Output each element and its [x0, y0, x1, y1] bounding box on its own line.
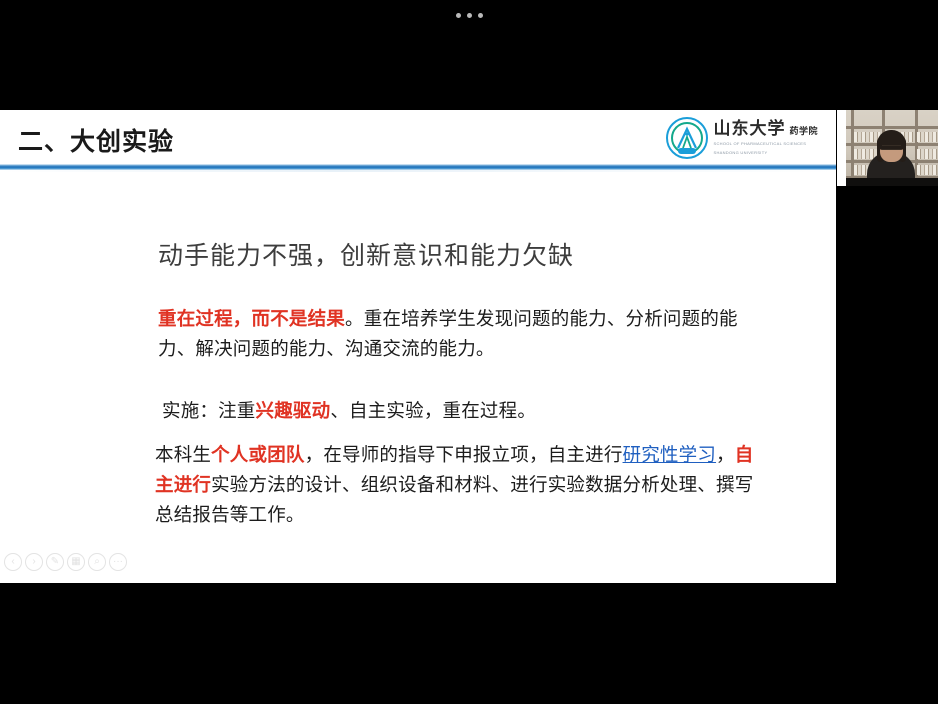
university-logo-text: 山东大学 药学院 SCHOOL OF PHARMACEUTICAL SCIENC…	[713, 121, 818, 156]
menu-dot-icon	[467, 13, 472, 18]
presentation-slide[interactable]: 二、大创实验 山东大学 药学院	[0, 110, 836, 583]
logo-chinese-sub: 药学院	[789, 127, 818, 136]
shelf-books	[917, 149, 937, 159]
emblem-band	[678, 148, 696, 154]
paragraph-2-prefix: 实施：注重	[162, 400, 256, 421]
shelf-books	[917, 165, 937, 175]
all-slides-icon[interactable]: ▦	[67, 553, 85, 571]
presenter-webcam-overlay[interactable]	[837, 110, 938, 186]
top-menu-dots[interactable]	[0, 7, 938, 23]
header-accent-rule-shadow	[0, 170, 836, 172]
slide-header: 二、大创实验 山东大学 药学院	[0, 110, 836, 168]
university-logo: 山东大学 药学院 SCHOOL OF PHARMACEUTICAL SCIENC…	[666, 115, 818, 161]
slide-paragraph-3: 本科生个人或团队，在导师的指导下申报立项，自主进行研究性学习，自主进行实验方法的…	[155, 440, 770, 530]
slide-paragraph-1: 重在过程，而不是结果。重在培养学生发现问题的能力、分析问题的能力、解决问题的能力…	[158, 304, 768, 364]
emblem-arch-mark	[675, 126, 699, 150]
university-emblem-icon	[666, 117, 708, 159]
paragraph-3-seg-5: ，	[716, 444, 735, 465]
screen-root: 二、大创实验 山东大学 药学院	[0, 0, 938, 704]
menu-dot-icon	[456, 13, 461, 18]
paragraph-3-seg-1: 本科生	[155, 444, 211, 465]
paragraph-3-seg-3: ，在导师的指导下申报立项，自主进行	[305, 444, 623, 465]
slide-headline: 动手能力不强，创新意识和能力欠缺	[158, 236, 574, 272]
webcam-left-edge	[837, 110, 846, 186]
logo-chinese-main: 山东大学	[713, 121, 785, 138]
webcam-bottom-band	[837, 178, 938, 186]
pen-tool-icon[interactable]: ✎	[46, 553, 64, 571]
paragraph-2-red: 兴趣驱动	[256, 400, 331, 421]
next-slide-icon[interactable]: ›	[25, 553, 43, 571]
paragraph-1-red-lead: 重在过程，而不是结果	[158, 308, 345, 329]
slide-title: 二、大创实验	[18, 122, 174, 158]
logo-english-line-1: SCHOOL OF PHARMACEUTICAL SCIENCES	[713, 141, 818, 147]
logo-english-line-2: SHANDONG UNIVERSITY	[713, 150, 818, 156]
zoom-in-icon[interactable]: ⌕	[88, 553, 106, 571]
shelf-board	[837, 126, 938, 129]
presenter-glasses	[882, 145, 901, 150]
presenter-control-bar[interactable]: ‹ › ✎ ▦ ⌕ ···	[4, 553, 127, 571]
menu-dot-icon	[478, 13, 483, 18]
previous-slide-icon[interactable]: ‹	[4, 553, 22, 571]
paragraph-2-suffix: 、自主实验，重在过程。	[330, 400, 536, 421]
slide-paragraph-2: 实施：注重兴趣驱动、自主实验，重在过程。	[162, 396, 772, 426]
paragraph-3-hyperlink[interactable]: 研究性学习	[623, 444, 717, 465]
paragraph-3-seg-7: 实验方法的设计、组织设备和材料、进行实验数据分析处理、撰写总结报告等工作。	[155, 474, 753, 525]
more-options-icon[interactable]: ···	[109, 553, 127, 571]
shelf-books	[917, 132, 937, 142]
paragraph-3-red-team: 个人或团队	[211, 444, 305, 465]
